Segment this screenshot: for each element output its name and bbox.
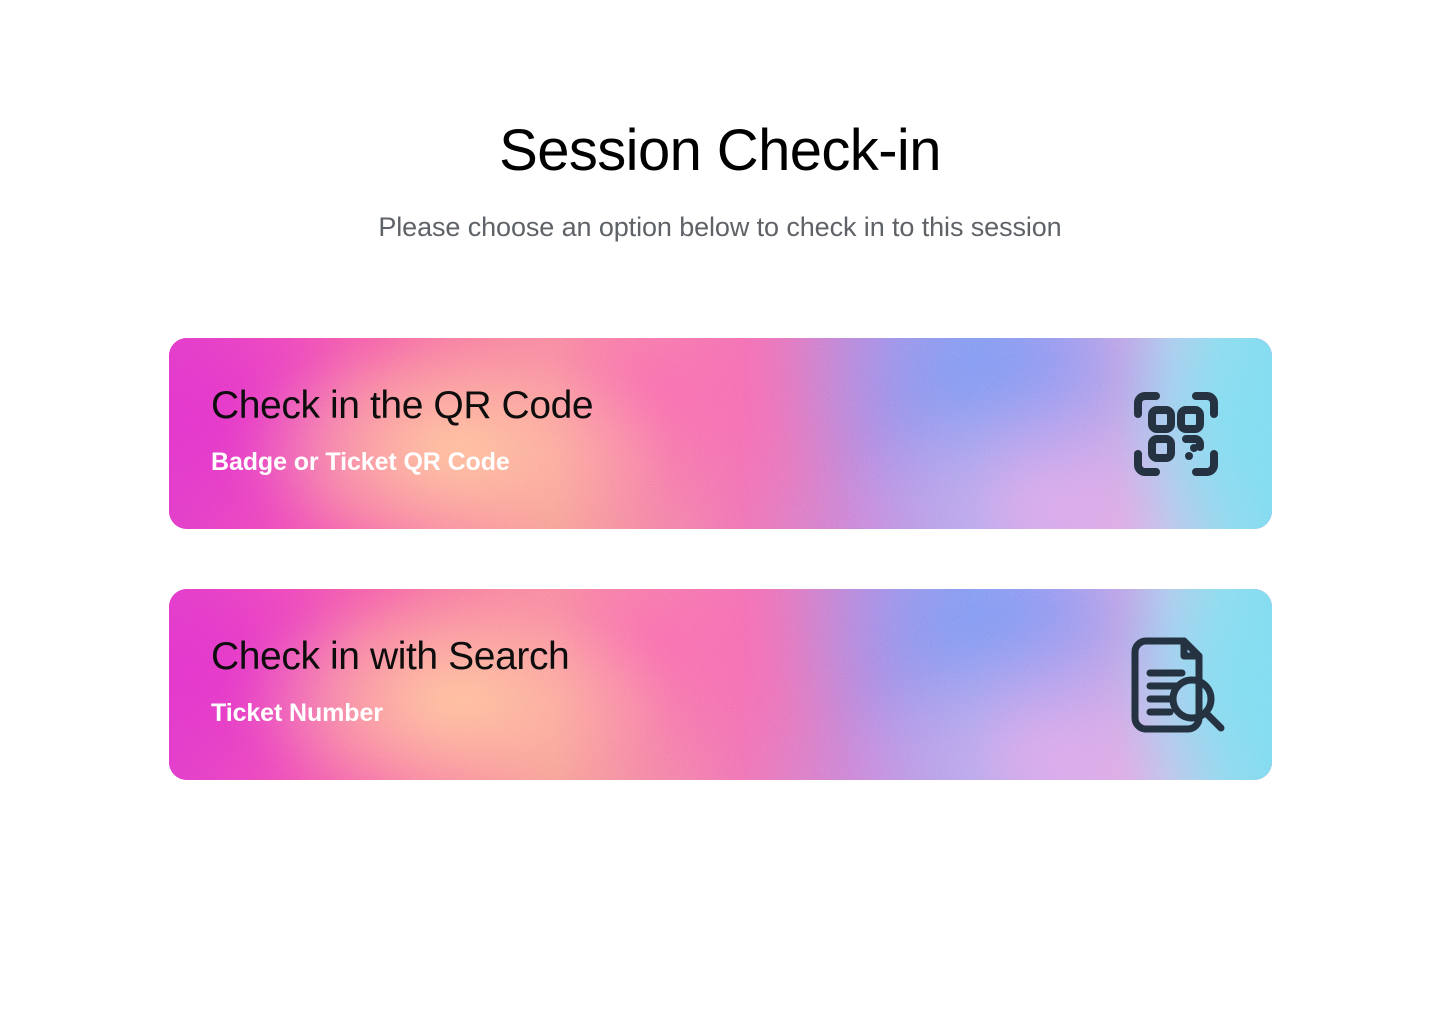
page-header: Session Check-in Please choose an option… — [0, 0, 1440, 245]
qr-code-scan-icon — [1124, 382, 1228, 486]
card-subtitle: Ticket Number — [211, 681, 569, 729]
card-title: Check in with Search — [211, 633, 569, 681]
card-text-block: Check in the QR Code Badge or Ticket QR … — [211, 382, 593, 478]
document-search-icon — [1124, 633, 1228, 737]
page-subtitle: Please choose an option below to check i… — [0, 189, 1440, 245]
card-title: Check in the QR Code — [211, 382, 593, 430]
checkin-option-search[interactable]: Check in with Search Ticket Number — [169, 589, 1272, 780]
checkin-option-qr-code[interactable]: Check in the QR Code Badge or Ticket QR … — [169, 338, 1272, 529]
card-text-block: Check in with Search Ticket Number — [211, 633, 569, 729]
card-subtitle: Badge or Ticket QR Code — [211, 430, 593, 478]
checkin-options-list: Check in the QR Code Badge or Ticket QR … — [169, 338, 1272, 780]
session-checkin-page: Session Check-in Please choose an option… — [0, 0, 1440, 1024]
page-title: Session Check-in — [0, 0, 1440, 189]
